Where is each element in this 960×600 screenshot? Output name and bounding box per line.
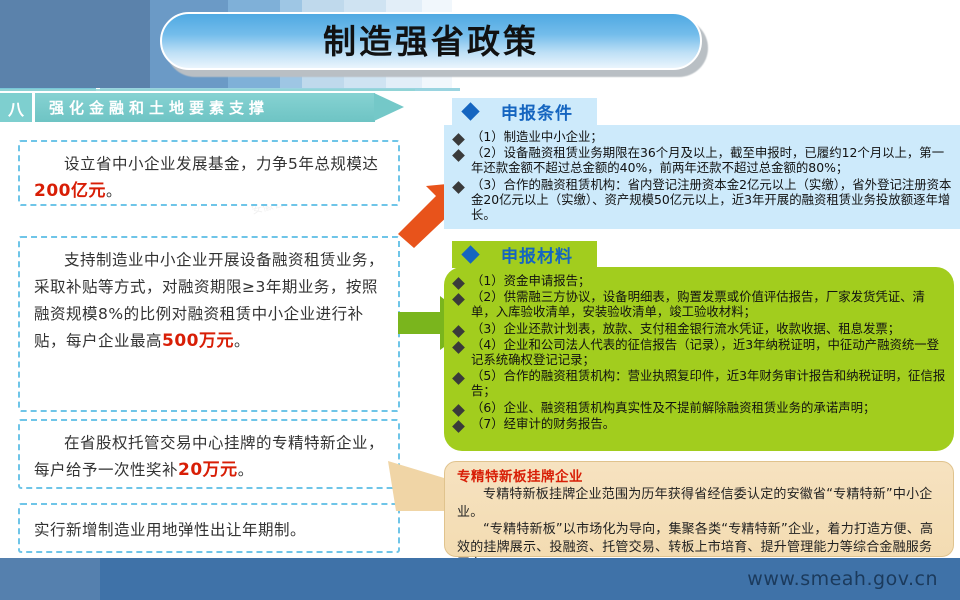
list-item: （5）合作的融资租赁机构：营业执照复印件，近3年财务审计报告和纳税证明，征信报告… <box>444 368 954 398</box>
list-item-text: （7）经审计的财务报告。 <box>471 416 623 431</box>
slide-canvas: 制造强省政策 八 强化金融和土地要素支撑 安徽省人民政府发布 安徽省人民政府发布… <box>0 0 960 600</box>
diamond-bullet-icon <box>452 149 465 162</box>
conditions-body: （1）制造业中小企业；（2）设备融资租赁业务期限在36个月及以上，截至申报时，已… <box>444 125 960 229</box>
list-item-text: （1）资金申请报告； <box>471 273 598 288</box>
slide-title-banner: 制造强省政策 <box>160 12 708 74</box>
footer-url: www.smeah.gov.cn <box>747 568 938 590</box>
materials-heading: 申报材料 <box>501 242 573 267</box>
list-item-text: （4）企业和公司法人代表的征信报告（记录），近3年纳税证明，中征动产融资统一登记… <box>471 337 954 367</box>
footer-bar: www.smeah.gov.cn <box>0 558 960 600</box>
note-box: 专精特新板挂牌企业 专精特新板挂牌企业范围为历年获得省经信委认定的安徽省“专精特… <box>444 461 954 557</box>
diamond-bullet-icon <box>452 341 465 354</box>
list-item-text: （1）制造业中小企业； <box>471 129 611 144</box>
list-item-text: （5）合作的融资租赁机构：营业执照复印件，近3年财务审计报告和纳税证明，征信报告… <box>471 368 954 398</box>
list-item-text: （3）合作的融资租赁机构：省内登记注册资本金2亿元以上（实缴），省外登记注册资本… <box>471 177 960 223</box>
diamond-bullet-icon <box>452 325 465 338</box>
list-item-text: （2）供需融三方协议，设备明细表，购置发票或价值评估报告，厂家发货凭证、清单，入… <box>471 289 954 319</box>
materials-heading-bar: 申报材料 <box>452 241 597 268</box>
section-label: 强化金融和土地要素支撑 <box>35 97 269 118</box>
fund-box: 设立省中小企业发展基金，力争5年总规模达200亿元。 <box>18 140 400 206</box>
land-flex-text: 实行新增制造业用地弹性出让年期制。 <box>34 517 386 544</box>
diamond-bullet-icon <box>452 372 465 385</box>
diamond-bullet-icon <box>452 133 465 146</box>
page-title: 制造强省政策 <box>323 25 539 58</box>
note-box-title: 专精特新板挂牌企业 <box>457 468 943 486</box>
list-item: （2）设备融资租赁业务期限在36个月及以上，截至申报时，已履约12个月以上，第一… <box>444 145 960 175</box>
land-flex-box: 实行新增制造业用地弹性出让年期制。 <box>18 503 400 553</box>
diamond-bullet-icon <box>461 245 479 263</box>
diamond-bullet-icon <box>452 181 465 194</box>
footer-left-block <box>0 558 100 600</box>
leasing-subsidy-box: 支持制造业中小企业开展设备融资租赁业务，采取补贴等方式，对融资期限≥3年期业务，… <box>18 236 400 412</box>
section-banner: 八 强化金融和土地要素支撑 <box>0 93 415 122</box>
diamond-bullet-icon <box>452 277 465 290</box>
diamond-bullet-icon <box>452 420 465 433</box>
list-item: （4）企业和公司法人代表的征信报告（记录），近3年纳税证明，中征动产融资统一登记… <box>444 337 954 367</box>
list-item-text: （2）设备融资租赁业务期限在36个月及以上，截至申报时，已履约12个月以上，第一… <box>471 145 960 175</box>
section-label-bar: 强化金融和土地要素支撑 <box>35 93 375 122</box>
list-item: （2）供需融三方协议，设备明细表，购置发票或价值评估报告，厂家发货凭证、清单，入… <box>444 289 954 319</box>
list-item: （1）制造业中小企业； <box>444 129 960 144</box>
diamond-bullet-icon <box>452 404 465 417</box>
list-item: （3）合作的融资租赁机构：省内登记注册资本金2亿元以上（实缴），省外登记注册资本… <box>444 177 960 223</box>
list-item: （7）经审计的财务报告。 <box>444 416 954 431</box>
diamond-bullet-icon <box>452 293 465 306</box>
list-item: （6）企业、融资租赁机构真实性及不提前解除融资租赁业务的承诺声明； <box>444 400 954 415</box>
materials-body: （1）资金申请报告；（2）供需融三方协议，设备明细表，购置发票或价值评估报告，厂… <box>444 267 954 451</box>
fund-box-text: 设立省中小企业发展基金，力争5年总规模达200亿元。 <box>34 151 386 205</box>
banner-underline <box>0 89 415 91</box>
diamond-bullet-icon <box>461 102 479 120</box>
list-item: （3）企业还款计划表，放款、支付租金银行流水凭证，收款收据、租息发票； <box>444 321 954 336</box>
section-number: 八 <box>0 93 32 122</box>
listing-award-box: 在省股权托管交易中心挂牌的专精特新企业，每户给予一次性奖补20万元。 <box>18 419 400 489</box>
list-item: （1）资金申请报告； <box>444 273 954 288</box>
list-item-text: （3）企业还款计划表，放款、支付租金银行流水凭证，收款收据、租息发票； <box>471 321 908 336</box>
conditions-heading: 申报条件 <box>501 99 573 124</box>
conditions-heading-bar: 申报条件 <box>452 98 597 125</box>
listing-award-text: 在省股权托管交易中心挂牌的专精特新企业，每户给予一次性奖补20万元。 <box>34 430 386 484</box>
leasing-subsidy-text: 支持制造业中小企业开展设备融资租赁业务，采取补贴等方式，对融资期限≥3年期业务，… <box>34 247 386 355</box>
banner-arrow-tip <box>374 93 404 121</box>
list-item-text: （6）企业、融资租赁机构真实性及不提前解除融资租赁业务的承诺声明； <box>471 400 883 415</box>
note-box-paragraph-1: 专精特新板挂牌企业范围为历年获得省经信委认定的安徽省“专精特新”中小企业。 <box>457 486 943 521</box>
title-pill: 制造强省政策 <box>160 12 702 70</box>
